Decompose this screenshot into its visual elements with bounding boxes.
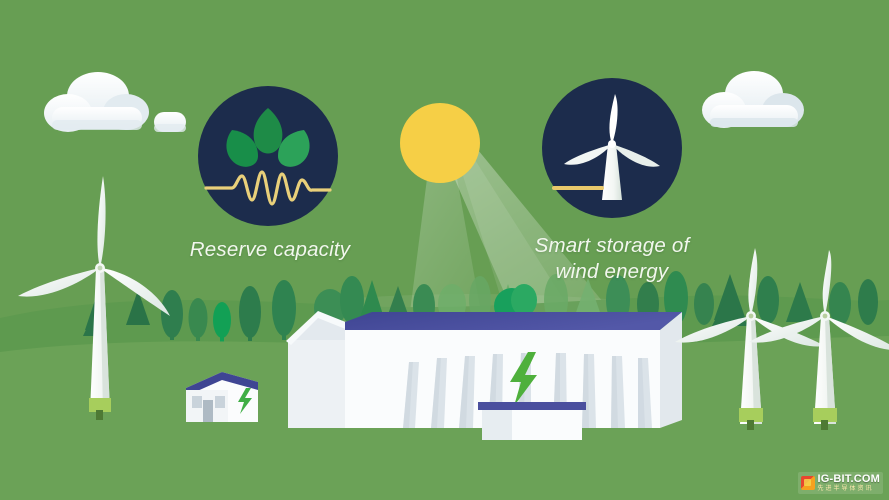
- ig-bit-watermark: IG-BIT.COM 先进半导体资讯: [798, 472, 884, 494]
- smart-storage-label: Smart storage of wind energy: [512, 233, 712, 285]
- smart-storage-badge: [542, 78, 682, 218]
- reserve-capacity-label: Reserve capacity: [170, 237, 370, 263]
- reserve-capacity-badge: [198, 86, 338, 226]
- warehouse-roof: [345, 312, 682, 330]
- sun-icon: [400, 103, 480, 183]
- watermark-main-text: IG-BIT.COM: [818, 474, 881, 485]
- house-door: [203, 400, 213, 422]
- battery-warehouse: [286, 311, 682, 440]
- illustration-canvas: Reserve capacity Smart storage of wind e…: [0, 0, 889, 500]
- watermark-sub-text: 先进半导体资讯: [818, 486, 881, 492]
- scene-svg: [0, 0, 889, 500]
- cloud-left-small-icon: [154, 112, 186, 132]
- badge-gold-line: [552, 186, 604, 190]
- watermark-text-group: IG-BIT.COM 先进半导体资讯: [818, 474, 881, 492]
- annex-roof: [478, 402, 586, 410]
- ig-bit-logo-icon: [801, 476, 815, 490]
